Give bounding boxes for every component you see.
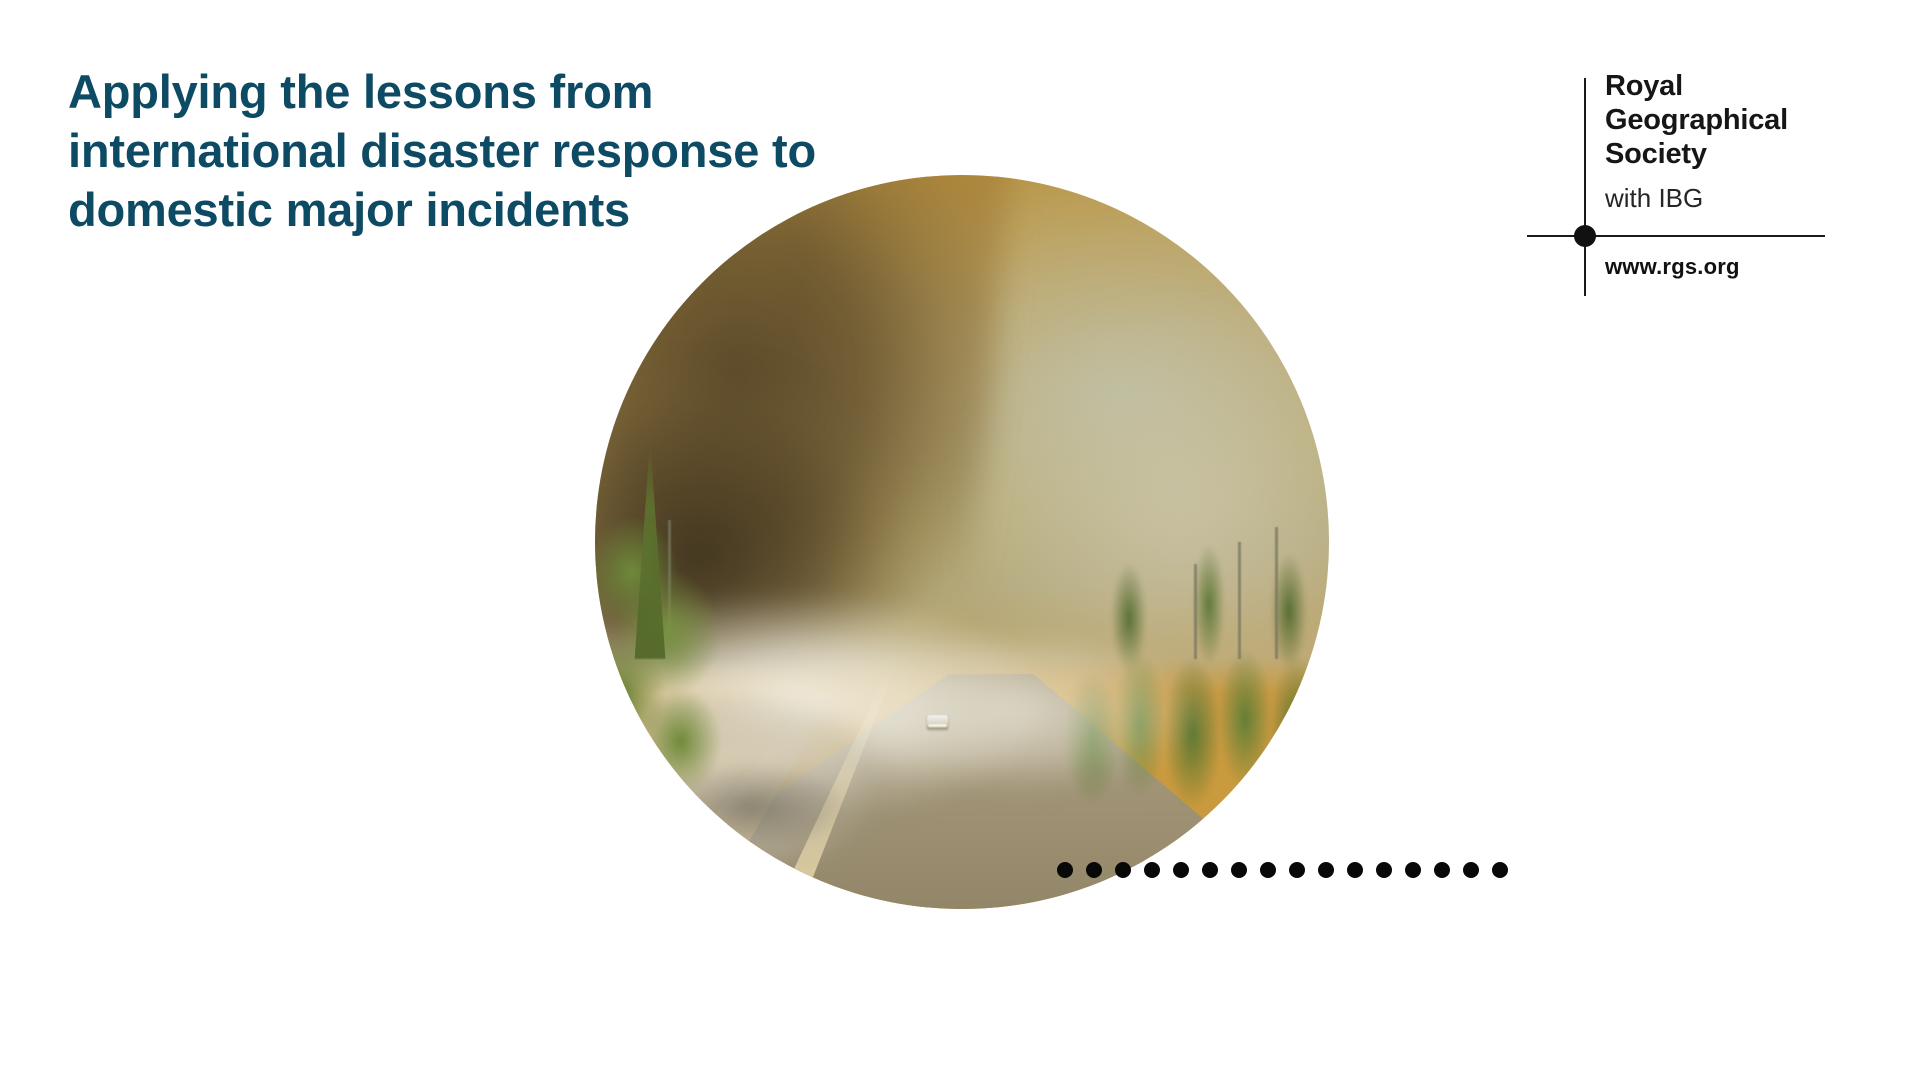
car-headlights: [928, 724, 948, 727]
logo-subtitle: with IBG: [1605, 183, 1703, 214]
rgs-logo: Royal Geographical Society with IBG www.…: [1527, 70, 1857, 300]
decorative-dots-row: [1057, 862, 1508, 878]
dot: [1318, 862, 1334, 878]
wildfire-road-photo: [595, 175, 1329, 909]
photo-artwork: [595, 175, 1329, 909]
conifers-left: [595, 498, 786, 836]
dot: [1463, 862, 1479, 878]
logo-vertical-rule: [1584, 78, 1586, 296]
dot: [1405, 862, 1421, 878]
dot: [1202, 862, 1218, 878]
dot: [1115, 862, 1131, 878]
presentation-slide: Applying the lessons from international …: [0, 0, 1920, 1080]
dot: [1144, 862, 1160, 878]
logo-dot-icon: [1574, 225, 1596, 247]
dot: [1434, 862, 1450, 878]
dot: [1347, 862, 1363, 878]
dot: [1492, 862, 1508, 878]
logo-horizontal-rule: [1527, 235, 1825, 237]
dot: [1289, 862, 1305, 878]
dot: [1086, 862, 1102, 878]
logo-website-url[interactable]: www.rgs.org: [1605, 254, 1740, 280]
white-car: [927, 715, 948, 729]
dot: [1260, 862, 1276, 878]
logo-organisation-name: Royal Geographical Society: [1605, 70, 1855, 172]
dot: [1376, 862, 1392, 878]
dot: [1173, 862, 1189, 878]
dot: [1057, 862, 1073, 878]
dot: [1231, 862, 1247, 878]
